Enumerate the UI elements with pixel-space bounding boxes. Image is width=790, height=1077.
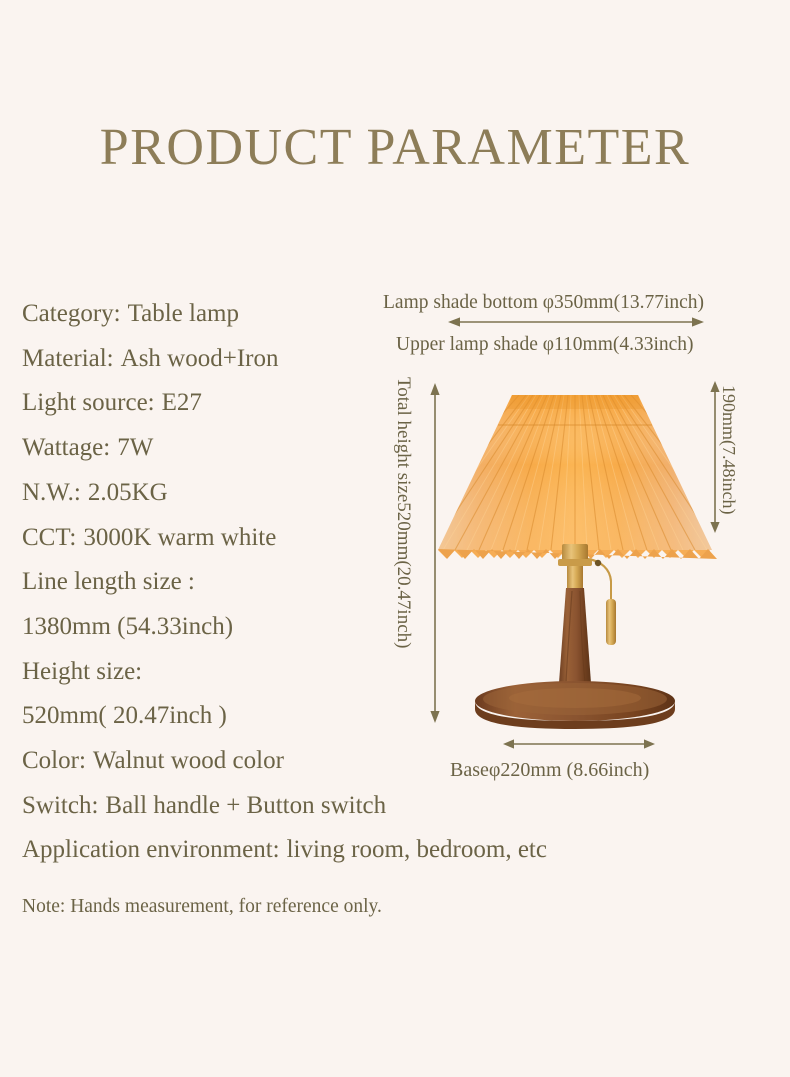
pull-chain[interactable] [588, 559, 616, 645]
spec-label-wattage: Wattage: [22, 434, 110, 461]
dimension-label-total-height: Total height size520mm(20.47inch) [392, 377, 414, 648]
spec-label-switch: Switch: [22, 792, 98, 819]
spec-row-line-length-label: Line length size : [22, 560, 422, 605]
spec-value-cct: 3000K warm white [83, 524, 276, 551]
lamp-socket [558, 544, 592, 590]
spec-value-wattage: 7W [117, 434, 153, 461]
dimension-label-base: Baseφ220mm (8.66inch) [450, 759, 649, 782]
dimension-arrow-base [503, 737, 655, 751]
note-text: Note: Hands measurement, for reference o… [22, 896, 382, 918]
spec-label-height: Height size: [22, 658, 142, 685]
spec-label-material: Material: [22, 345, 114, 372]
spec-row-net-weight: N.W.:2.05KG [22, 471, 422, 516]
spec-row-application-environment: Application environment:living room, bed… [22, 828, 422, 873]
spec-row-line-length-value: 1380mm (54.33inch) [22, 605, 422, 650]
specification-list: Category:Table lamp Material:Ash wood+Ir… [22, 292, 422, 873]
dimension-label-shade-bottom: Lamp shade bottom φ350mm(13.77inch) [383, 292, 704, 314]
spec-row-height-label: Height size: [22, 650, 422, 695]
product-parameter-page: PRODUCT PARAMETER Category:Table lamp Ma… [0, 0, 790, 1077]
lamp-base [475, 681, 675, 729]
spec-label-cct: CCT: [22, 524, 76, 551]
spec-label-line-length: Line length size : [22, 568, 195, 595]
dimension-arrow-total-height [428, 383, 442, 723]
spec-label-application-environment: Application environment: [22, 836, 280, 863]
spec-row-cct: CCT:3000K warm white [22, 516, 422, 561]
spec-value-category: Table lamp [128, 300, 239, 327]
spec-value-switch: Ball handle + Button switch [105, 792, 386, 819]
lamp-dimension-diagram: Lamp shade bottom φ350mm(13.77inch) Uppe… [378, 285, 790, 795]
spec-row-light-source: Light source:E27 [22, 381, 422, 426]
dimension-arrow-shade-bottom [448, 315, 704, 329]
spec-label-category: Category: [22, 300, 121, 327]
spec-row-color: Color:Walnut wood color [22, 739, 422, 784]
spec-row-wattage: Wattage:7W [22, 426, 422, 471]
spec-value-line-length: 1380mm (54.33inch) [22, 613, 233, 640]
spec-value-color: Walnut wood color [93, 747, 284, 774]
page-title: PRODUCT PARAMETER [0, 118, 790, 177]
spec-row-category: Category:Table lamp [22, 292, 422, 337]
spec-value-application-environment: living room, bedroom, etc [287, 836, 547, 863]
spec-value-material: Ash wood+Iron [121, 345, 279, 372]
spec-value-height: 520mm( 20.47inch ) [22, 702, 227, 729]
lamp-shade [420, 395, 730, 559]
spec-row-material: Material:Ash wood+Iron [22, 337, 422, 382]
dimension-label-shade-height: 190mm(7.48inch) [718, 385, 739, 514]
spec-row-switch: Switch:Ball handle + Button switch [22, 784, 422, 829]
spec-label-color: Color: [22, 747, 86, 774]
spec-label-light-source: Light source: [22, 389, 155, 416]
spec-row-height-value: 520mm( 20.47inch ) [22, 694, 422, 739]
spec-label-net-weight: N.W.: [22, 479, 81, 506]
spec-value-light-source: E27 [162, 389, 202, 416]
dimension-label-shade-upper: Upper lamp shade φ110mm(4.33inch) [396, 334, 694, 356]
spec-value-net-weight: 2.05KG [88, 479, 168, 506]
table-lamp-illustration [420, 383, 730, 738]
ball-handle[interactable] [606, 599, 616, 645]
